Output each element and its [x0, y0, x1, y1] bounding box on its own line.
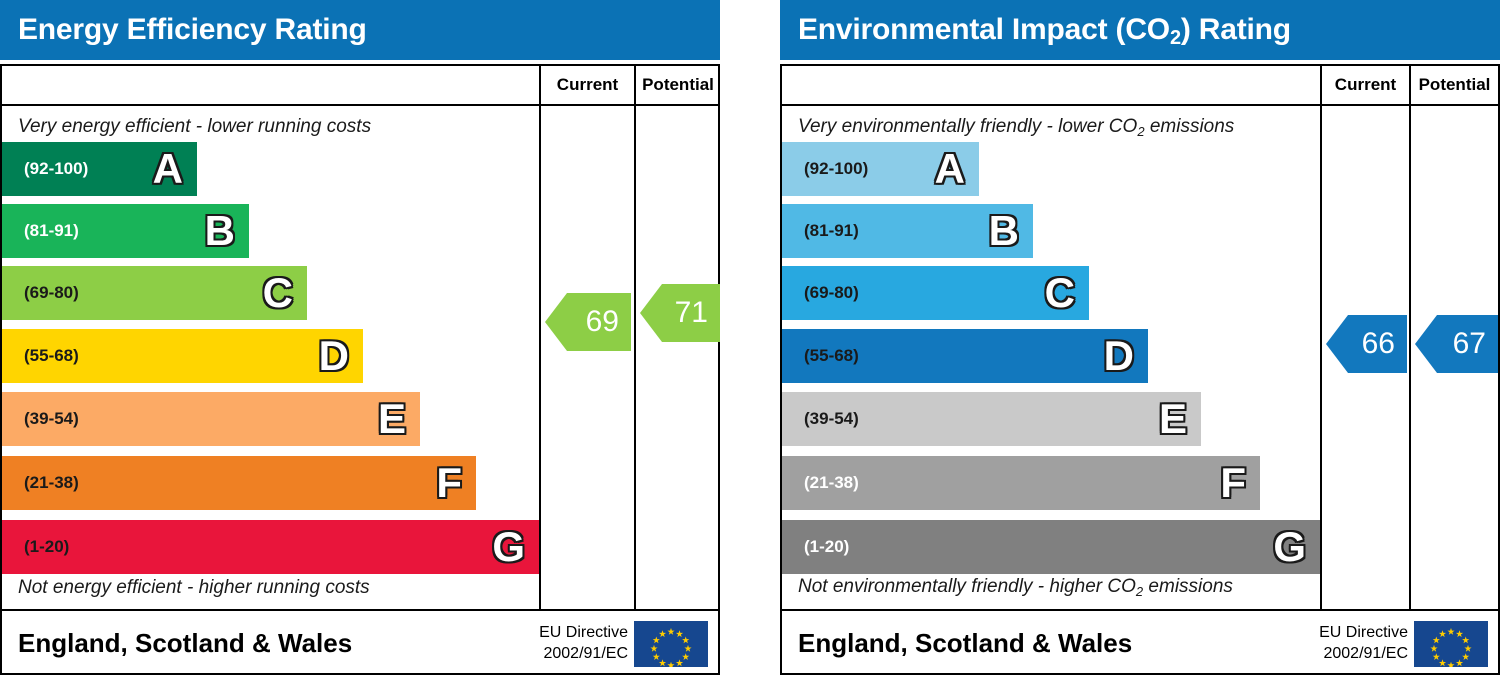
band-range-a: (92-100) [24, 159, 88, 179]
eu-flag-icon [1414, 621, 1488, 667]
band-row-f: (21-38) F [2, 456, 476, 510]
caption-top-env-tail: emissions [1145, 116, 1235, 137]
caption-top-env-head: Very environmentally friendly - lower CO [798, 116, 1137, 137]
energy-bands-area: Very energy efficient - lower running co… [2, 106, 539, 607]
band-letter-g-env: G [1273, 526, 1306, 568]
directive-line-1-env: EU Directive [1319, 622, 1408, 643]
band-row-g: (1-20) G [2, 520, 539, 574]
band-letter-c: C [263, 272, 293, 314]
column-divider-potential-env [1409, 66, 1411, 673]
band-row-a: (92-100) A [2, 142, 197, 196]
band-letter-a: A [153, 148, 183, 190]
band-letter-b-env: B [989, 210, 1019, 252]
current-rating-value-env: 66 [1362, 327, 1395, 361]
column-header-row: Current Potential [2, 66, 718, 106]
band-letter-d-env: D [1104, 335, 1134, 377]
footer-directive-energy: EU Directive 2002/91/EC [539, 622, 628, 664]
directive-line-2-energy: 2002/91/EC [539, 643, 628, 664]
column-divider-current-env [1320, 66, 1322, 673]
band-row-e-env: (39-54) E [782, 392, 1201, 446]
band-range-c: (69-80) [24, 283, 79, 303]
band-range-d: (55-68) [24, 346, 79, 366]
panel-title-text-env-head: Environmental Impact (CO [798, 13, 1170, 46]
band-row-d: (55-68) D [2, 329, 363, 383]
epc-chart-page: Energy Efficiency Rating Current Potenti… [0, 0, 1500, 675]
band-letter-c-env: C [1045, 272, 1075, 314]
band-row-e: (39-54) E [2, 392, 420, 446]
footer-region-env: England, Scotland & Wales [798, 611, 1132, 675]
band-letter-f: F [436, 462, 462, 504]
caption-bottom-env-head: Not environmentally friendly - higher CO [798, 576, 1136, 597]
energy-efficiency-panel: Energy Efficiency Rating Current Potenti… [0, 0, 720, 675]
band-row-c-env: (69-80) C [782, 266, 1089, 320]
band-range-a-env: (92-100) [804, 159, 868, 179]
band-letter-b: B [205, 210, 235, 252]
caption-bottom-env-tail: emissions [1143, 576, 1233, 597]
caption-bottom-environmental: Not environmentally friendly - higher CO… [798, 576, 1233, 599]
column-header-current-env: Current [1322, 66, 1409, 104]
band-range-b: (81-91) [24, 221, 79, 241]
environmental-chart-body: Current Potential Very environmentally f… [780, 64, 1500, 675]
potential-rating-value-energy: 71 [675, 296, 708, 330]
band-row-d-env: (55-68) D [782, 329, 1148, 383]
caption-top-env-sub: 2 [1137, 124, 1144, 139]
panel-title-environmental: Environmental Impact (CO2) Rating [780, 0, 1500, 60]
band-range-f: (21-38) [24, 473, 79, 493]
band-range-c-env: (69-80) [804, 283, 859, 303]
band-range-f-env: (21-38) [804, 473, 859, 493]
band-letter-e-env: E [1159, 398, 1187, 440]
current-rating-arrow-env: 66 [1326, 315, 1407, 373]
footer-environmental: England, Scotland & Wales EU Directive 2… [782, 609, 1498, 673]
footer-region-energy: England, Scotland & Wales [18, 611, 352, 675]
caption-top-energy: Very energy efficient - lower running co… [18, 116, 371, 138]
column-header-potential-env: Potential [1411, 66, 1498, 104]
environmental-bands-area: Very environmentally friendly - lower CO… [782, 106, 1320, 607]
caption-top-environmental: Very environmentally friendly - lower CO… [798, 116, 1234, 139]
column-header-potential: Potential [636, 66, 720, 104]
potential-rating-arrow-energy: 71 [640, 284, 720, 342]
band-range-d-env: (55-68) [804, 346, 859, 366]
eu-flag-icon [634, 621, 708, 667]
panel-title-co2-subscript: 2 [1170, 27, 1181, 49]
band-row-c: (69-80) C [2, 266, 307, 320]
band-range-e: (39-54) [24, 409, 79, 429]
band-letter-e: E [378, 398, 406, 440]
column-header-row-env: Current Potential [782, 66, 1498, 106]
band-letter-d: D [319, 335, 349, 377]
band-range-b-env: (81-91) [804, 221, 859, 241]
footer-directive-env: EU Directive 2002/91/EC [1319, 622, 1408, 664]
potential-rating-value-env: 67 [1453, 327, 1486, 361]
band-row-b-env: (81-91) B [782, 204, 1033, 258]
footer-energy: England, Scotland & Wales EU Directive 2… [2, 609, 718, 673]
panel-title-text: Energy Efficiency Rating [18, 13, 367, 46]
band-row-b: (81-91) B [2, 204, 249, 258]
panel-title-text-env-tail: ) Rating [1181, 13, 1291, 46]
directive-line-1-energy: EU Directive [539, 622, 628, 643]
band-letter-g: G [492, 526, 525, 568]
column-divider-current [539, 66, 541, 673]
band-letter-f-env: F [1220, 462, 1246, 504]
band-letter-a-env: A [935, 148, 965, 190]
column-divider-potential [634, 66, 636, 673]
band-row-f-env: (21-38) F [782, 456, 1260, 510]
band-row-a-env: (92-100) A [782, 142, 979, 196]
band-row-g-env: (1-20) G [782, 520, 1320, 574]
current-rating-value-energy: 69 [586, 305, 619, 339]
column-header-current: Current [541, 66, 634, 104]
panel-title-energy: Energy Efficiency Rating [0, 0, 720, 60]
band-range-g-env: (1-20) [804, 537, 849, 557]
potential-rating-arrow-env: 67 [1415, 315, 1498, 373]
caption-bottom-energy: Not energy efficient - higher running co… [18, 577, 370, 599]
band-range-g: (1-20) [24, 537, 69, 557]
current-rating-arrow-energy: 69 [545, 293, 631, 351]
directive-line-2-env: 2002/91/EC [1319, 643, 1408, 664]
energy-chart-body: Current Potential Very energy efficient … [0, 64, 720, 675]
environmental-impact-panel: Environmental Impact (CO2) Rating Curren… [780, 0, 1500, 675]
band-range-e-env: (39-54) [804, 409, 859, 429]
